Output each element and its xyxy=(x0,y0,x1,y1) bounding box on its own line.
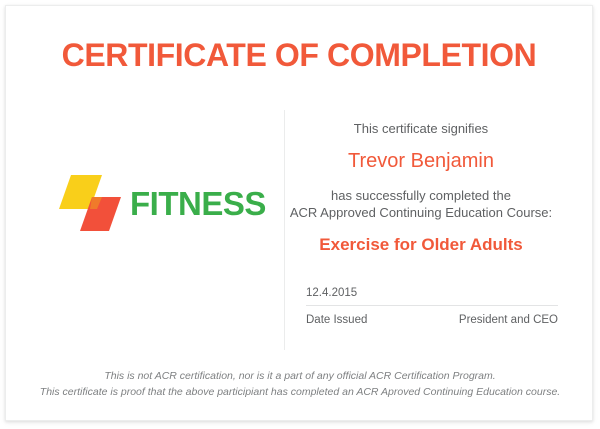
brand-logo: FITNESS xyxy=(59,175,266,231)
course-name: Exercise for Older Adults xyxy=(285,234,557,255)
disclaimer-line-1: This is not ACR certification, nor is it… xyxy=(6,368,594,384)
issue-date-value: 12.4.2015 xyxy=(306,287,558,305)
signature-labels: Date Issued President and CEO xyxy=(306,306,558,326)
disclaimer-footer: This is not ACR certification, nor is it… xyxy=(6,368,594,400)
brand-name-label: FITNESS xyxy=(130,187,266,220)
certificate-card: CERTIFICATE OF COMPLETION FITNESS This c… xyxy=(5,5,593,421)
completion-line-1: has successfully completed the xyxy=(285,187,557,204)
certificate-body: FITNESS This certificate signifies Trevo… xyxy=(6,102,594,350)
signifies-label: This certificate signifies xyxy=(285,120,557,137)
disclaimer-line-2: This certificate is proof that the above… xyxy=(6,384,594,400)
date-issued-label: Date Issued xyxy=(306,314,367,326)
signature-block: 12.4.2015 Date Issued President and CEO xyxy=(306,287,558,326)
page-title: CERTIFICATE OF COMPLETION xyxy=(6,37,592,74)
fitness-chevron-mark-icon xyxy=(59,175,121,231)
recipient-name: Trevor Benjamin xyxy=(285,149,557,173)
president-ceo-label: President and CEO xyxy=(459,314,558,326)
logo-column: FITNESS xyxy=(6,102,284,350)
completion-line-2: ACR Approved Continuing Education Course… xyxy=(285,204,557,221)
completion-text: has successfully completed the ACR Appro… xyxy=(285,187,557,221)
details-column: This certificate signifies Trevor Benjam… xyxy=(285,102,594,350)
